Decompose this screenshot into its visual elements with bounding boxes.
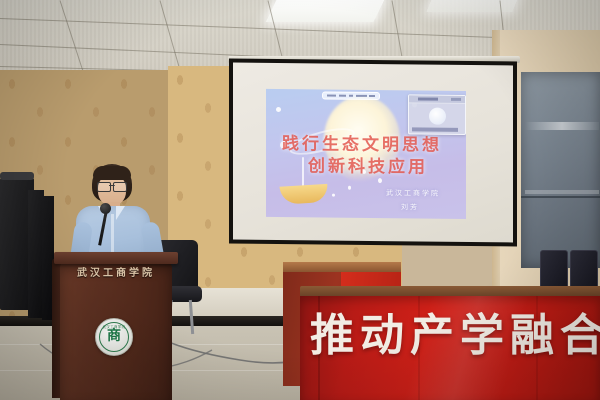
ceiling-light-icon-2 (426, 0, 519, 12)
panel-seam (521, 196, 600, 198)
presentation-slide[interactable]: 践行生态文明思想 创新科技应用 武汉工商学院 刘芳 (266, 89, 466, 219)
moon-icon (429, 108, 446, 125)
panel-glare-2 (525, 190, 599, 194)
floating-preview-window[interactable] (408, 94, 466, 135)
university-emblem: 武汉工商学院 商 (95, 318, 133, 356)
slide-organization: 武汉工商学院 (386, 188, 440, 199)
ceiling-light-icon (266, 0, 387, 22)
boat-icon (279, 184, 328, 205)
slide-presenter-name: 刘芳 (401, 202, 419, 212)
star-icon (276, 107, 281, 112)
emblem-character: 商 (96, 328, 132, 342)
collar-right (116, 206, 125, 220)
star-icon (348, 186, 351, 190)
conference-room-photo: 践行生态文明思想 创新科技应用 武汉工商学院 刘芳 (0, 0, 600, 400)
banner-text: 推动产学融合 (310, 314, 600, 358)
microphone-icon[interactable] (100, 203, 111, 214)
boat-mast-icon (302, 157, 304, 187)
projection-screen-surface: 践行生态文明思想 创新科技应用 武汉工商学院 刘芳 (233, 63, 513, 243)
podium-top (54, 252, 178, 264)
panel-glare (525, 122, 599, 130)
star-icon (378, 178, 382, 183)
window-footer (412, 127, 458, 131)
bangs (93, 166, 131, 180)
table-edge (283, 262, 401, 272)
projection-screen[interactable]: 践行生态文明思想 创新科技应用 武汉工商学院 刘芳 (229, 58, 517, 246)
red-banner: 推动产学融合 (300, 296, 600, 400)
star-icon (332, 194, 335, 197)
wall-display-panel (521, 72, 600, 268)
window-title-bar[interactable] (409, 95, 465, 104)
slide-toolbar[interactable] (322, 91, 380, 100)
podium-label: 武汉工商学院 (62, 264, 170, 279)
slide-title-line-2: 创新科技应用 (308, 151, 428, 177)
glasses-icon (97, 182, 127, 190)
